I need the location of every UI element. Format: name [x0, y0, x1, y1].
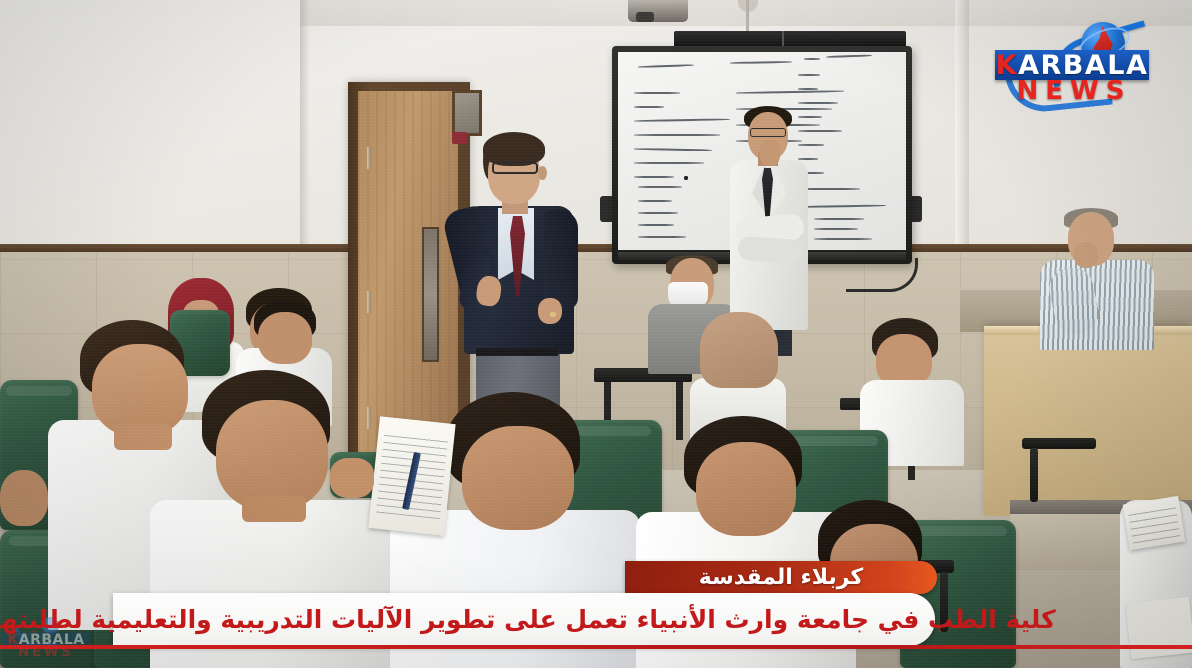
head	[696, 442, 796, 536]
hijab	[700, 312, 778, 388]
headline-underline	[0, 645, 1192, 649]
board-bar-seam	[782, 31, 784, 47]
hand-on-chin	[1074, 242, 1098, 268]
seat-support-rail	[1030, 448, 1038, 502]
projector-lens-icon	[636, 12, 654, 22]
logo-letters-arbala: ARBALA	[1018, 52, 1148, 79]
ceiling-projector	[628, 0, 688, 22]
ceiling-mount-rod	[746, 0, 749, 33]
logo-wordmark-news: NEWS	[999, 76, 1149, 106]
location-banner: كربلاء المقدسة	[625, 561, 937, 594]
belt	[476, 348, 558, 356]
wall-corner-left	[300, 0, 310, 250]
hand	[760, 140, 780, 166]
door-vision-panel	[422, 227, 439, 362]
board-top-bar	[674, 31, 906, 47]
door-hinge-icon	[367, 291, 371, 313]
head	[258, 312, 312, 364]
paper-sheet	[1125, 597, 1192, 659]
channel-logo: KARBALA NEWS	[985, 8, 1185, 108]
headline-banner: كلية الطب في جامعة وارث الأنبياء تعمل عل…	[113, 593, 935, 646]
clipboard	[1123, 496, 1186, 550]
head	[0, 470, 48, 526]
right-forearm	[458, 250, 492, 311]
location-banner-text: كربلاء المقدسة	[699, 565, 863, 590]
logo-letter-k: K	[996, 52, 1018, 79]
neck	[242, 496, 306, 522]
head	[216, 400, 328, 510]
standing-student	[724, 106, 814, 336]
hand-holding-clipboard	[330, 458, 374, 498]
tie-knot	[452, 132, 467, 144]
broadcast-video-frame: KARBALA NEWS KARBALA NEWS كربلاء المقدسة…	[0, 0, 1192, 668]
folded-arm	[737, 236, 803, 264]
clipboard-lines	[1128, 503, 1180, 543]
ring	[550, 312, 556, 317]
student-right-row	[860, 318, 964, 448]
door-hinge-icon	[367, 147, 371, 169]
student-hijab-tan	[690, 312, 786, 422]
left-hand	[538, 298, 562, 324]
headline-banner-text: كلية الطب في جامعة وارث الأنبياء تعمل عل…	[0, 605, 1070, 634]
door-transom-window	[452, 90, 482, 136]
left-arm	[544, 210, 578, 310]
hair	[483, 132, 545, 166]
eyeglasses-icon	[492, 162, 538, 174]
lecturer	[452, 132, 612, 432]
ear	[538, 166, 547, 180]
eyeglasses-icon	[750, 128, 786, 137]
head	[462, 426, 574, 530]
student-edge-left	[0, 430, 70, 550]
seated-supervisor	[1038, 212, 1158, 342]
wall-corner-right	[955, 0, 969, 250]
